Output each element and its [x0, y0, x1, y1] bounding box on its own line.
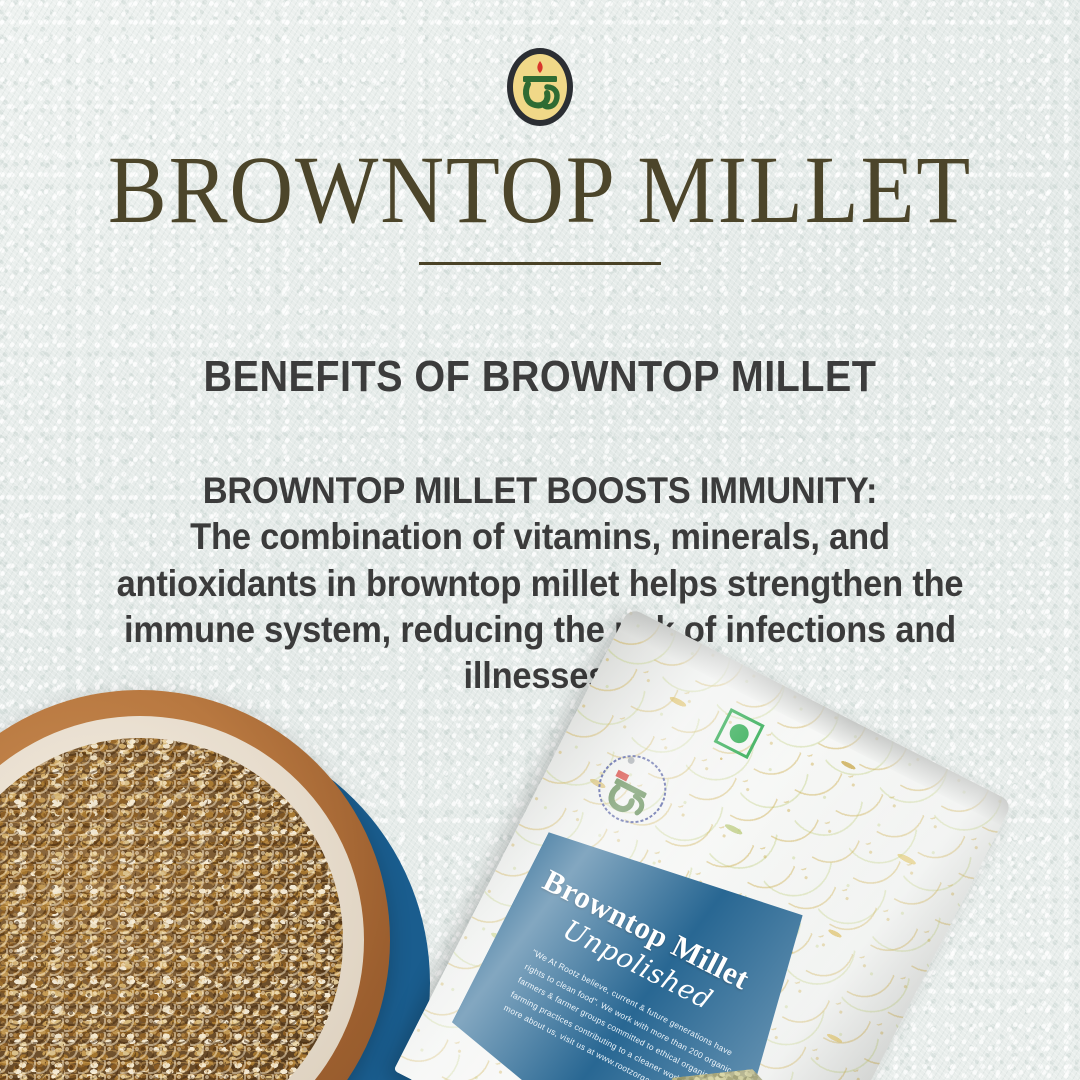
- benefit-paragraph: The combination of vitamins, minerals, a…: [103, 514, 977, 699]
- millet-bowl-image: [0, 690, 390, 1080]
- title-divider: [419, 262, 661, 265]
- benefit-block: BROWNTOP MILLET BOOSTS IMMUNITY: The com…: [103, 468, 977, 699]
- page-title: BROWNTOP MILLET: [43, 140, 1037, 241]
- grain-noise: [0, 738, 343, 1080]
- brand-logo: [502, 43, 578, 131]
- poster-canvas: BROWNTOP MILLET BENEFITS OF BROWNTOP MIL…: [0, 0, 1080, 1080]
- benefit-lead: BROWNTOP MILLET BOOSTS IMMUNITY:: [103, 468, 977, 514]
- section-heading: BENEFITS OF BROWNTOP MILLET: [54, 352, 1026, 402]
- bowl-grains: [0, 738, 343, 1080]
- vegetarian-dot: [726, 721, 752, 747]
